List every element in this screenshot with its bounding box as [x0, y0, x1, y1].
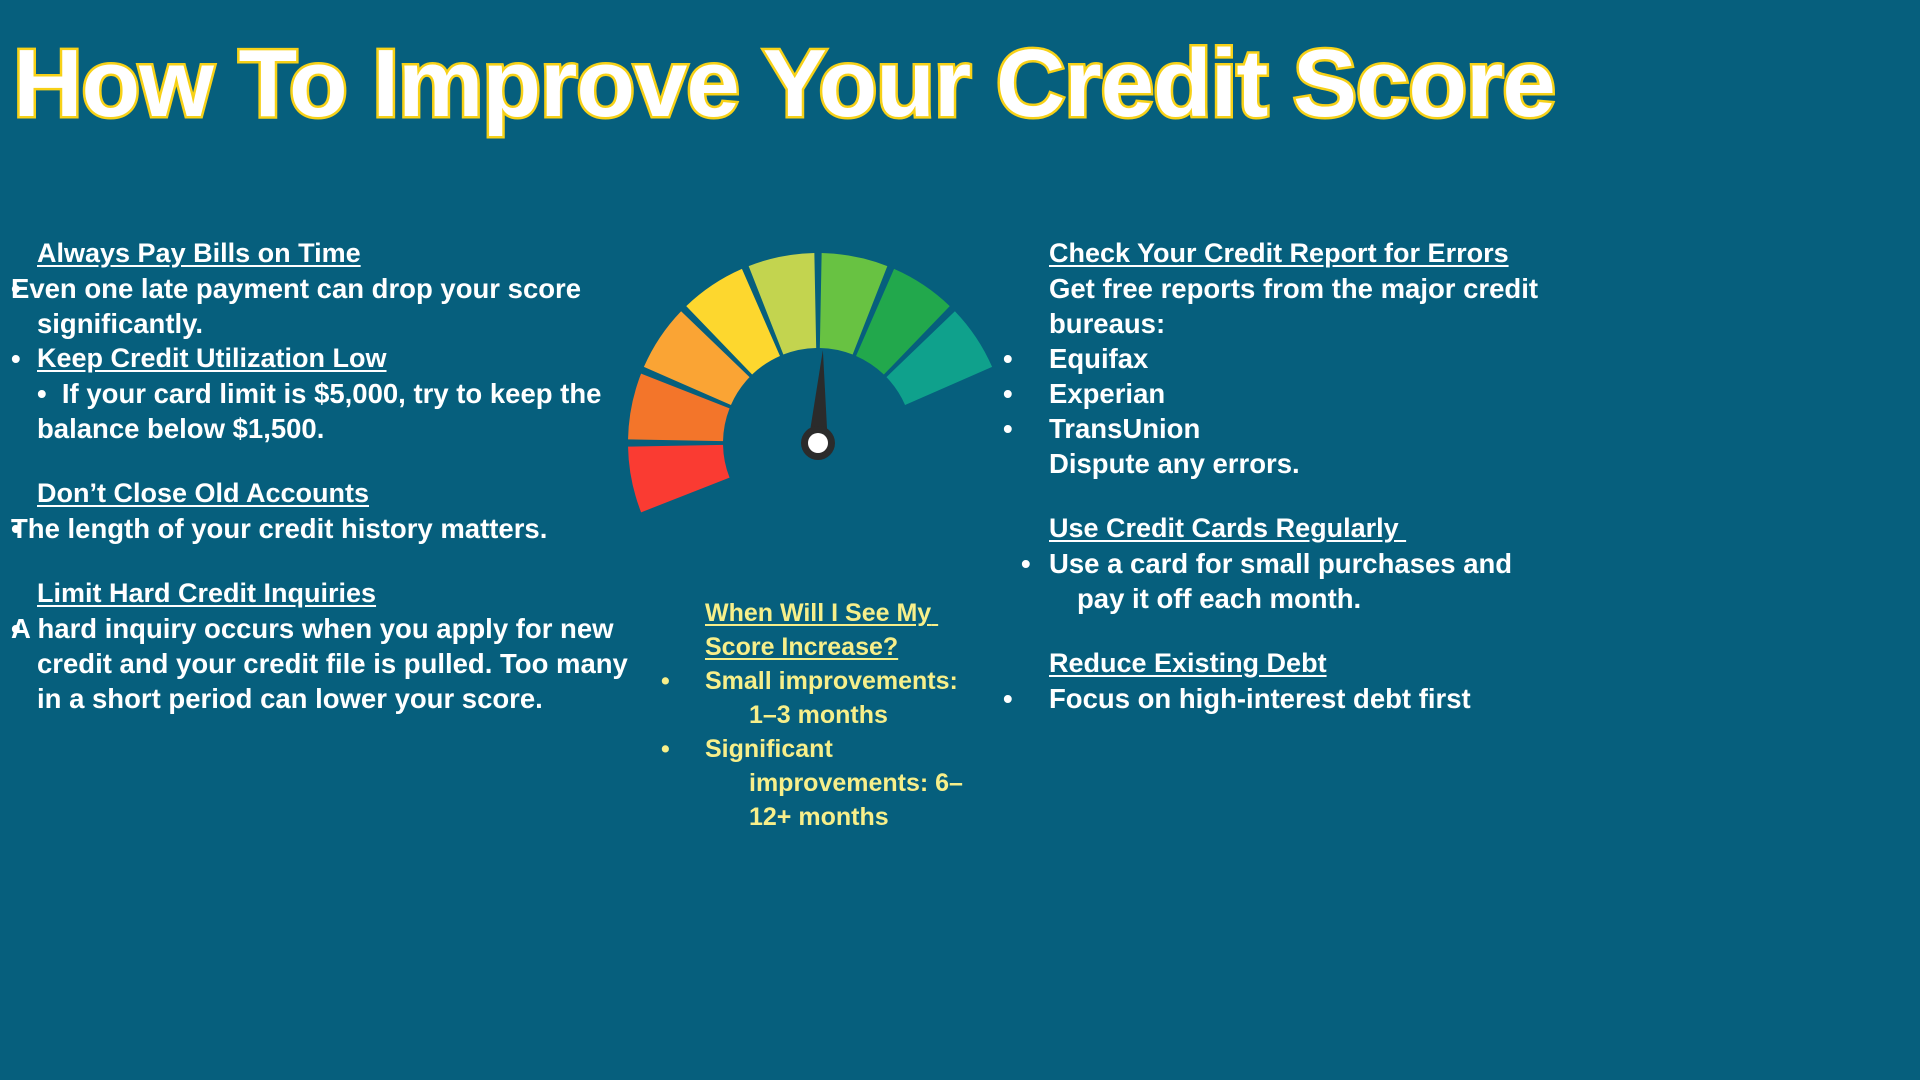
page-title: How To Improve Your Credit Score [0, 36, 1568, 132]
section-heading: When Will I See My Score Increase? [705, 596, 973, 664]
section-keep-utilization-low: Keep Credit Utilization Low • If your ca… [37, 341, 649, 446]
list-item: •Use a card for small purchases and pay … [1049, 546, 1549, 616]
section-reduce-existing-debt: Reduce Existing Debt •Focus on high-inte… [1049, 646, 1549, 716]
credit-score-gauge [615, 235, 1021, 551]
center-column: When Will I See My Score Increase? •Smal… [705, 596, 973, 834]
section-heading: Don’t Close Old Accounts [37, 476, 649, 511]
section-heading: Keep Credit Utilization Low [37, 341, 649, 376]
bullet-list: •A hard inquiry occurs when you apply fo… [37, 611, 649, 716]
list-item: • If your card limit is $5,000, try to k… [37, 376, 649, 446]
list-item-text: The length of your credit history matter… [37, 511, 649, 546]
list-item-text: Significant improvements: 6–12+ months [749, 732, 973, 834]
section-heading: Check Your Credit Report for Errors [1049, 236, 1549, 271]
bullet-glyph: • [37, 378, 62, 409]
section-check-credit-report: Check Your Credit Report for Errors Get … [1049, 236, 1549, 481]
section-heading: Reduce Existing Debt [1049, 646, 1549, 681]
gauge-svg [615, 235, 1021, 551]
spacer [1049, 481, 1549, 511]
list-item-text: If your card limit is $5,000, try to kee… [37, 378, 609, 444]
section-limit-hard-inquiries: Limit Hard Credit Inquiries •A hard inqu… [37, 576, 649, 716]
section-dont-close-old-accounts: Don’t Close Old Accounts •The length of … [37, 476, 649, 546]
section-heading: Limit Hard Credit Inquiries [37, 576, 649, 611]
list-item: •Significant improvements: 6–12+ months [705, 732, 973, 834]
list-item-text: Even one late payment can drop your scor… [37, 271, 649, 341]
bullet-list: •Small improvements: 1–3 months •Signifi… [705, 664, 973, 834]
spacer [37, 546, 649, 576]
section-heading: Always Pay Bills on Time [37, 236, 649, 271]
spacer [1049, 616, 1549, 646]
bullet-list: •Use a card for small purchases and pay … [1049, 546, 1549, 616]
bullet-list: •Equifax •Experian •TransUnion [1049, 341, 1549, 446]
gauge-needle [801, 350, 835, 460]
list-item: •Experian [1049, 376, 1549, 411]
section-when-will-i-see-increase: When Will I See My Score Increase? •Smal… [705, 596, 973, 834]
gauge-segments [628, 253, 992, 512]
list-item-text: Focus on high-interest debt first [1095, 681, 1549, 716]
list-item-text: Use a card for small purchases and pay i… [1077, 546, 1549, 616]
left-column: Always Pay Bills on Time •Even one late … [37, 236, 649, 716]
section-use-credit-cards: Use Credit Cards Regularly •Use a card f… [1049, 511, 1549, 616]
list-item-text: Equifax [1095, 341, 1549, 376]
list-item: •TransUnion [1049, 411, 1549, 446]
spacer [37, 446, 649, 476]
bullet-list: •Focus on high-interest debt first [1049, 681, 1549, 716]
list-item-text: Small improvements: 1–3 months [749, 664, 973, 732]
infographic-canvas: How To Improve Your Credit Score Always … [0, 0, 1568, 882]
list-item: •Small improvements: 1–3 months [705, 664, 973, 732]
list-item: •The length of your credit history matte… [37, 511, 649, 546]
section-intro-text: Get free reports from the major credit b… [1049, 271, 1549, 341]
section-outro-text: Dispute any errors. [1049, 446, 1549, 481]
bullet-list: •The length of your credit history matte… [37, 511, 649, 546]
right-column: Check Your Credit Report for Errors Get … [1049, 236, 1549, 716]
list-item-text: A hard inquiry occurs when you apply for… [37, 611, 649, 716]
bullet-list: •Even one late payment can drop your sco… [37, 271, 649, 341]
list-item: •Focus on high-interest debt first [1049, 681, 1549, 716]
list-item-text: TransUnion [1095, 411, 1549, 446]
section-always-pay-bills: Always Pay Bills on Time •Even one late … [37, 236, 649, 341]
bullet-list: • If your card limit is $5,000, try to k… [37, 376, 649, 446]
list-item: •A hard inquiry occurs when you apply fo… [37, 611, 649, 716]
needle-hub-inner [808, 433, 828, 453]
section-heading: Use Credit Cards Regularly [1049, 511, 1549, 546]
list-item: •Even one late payment can drop your sco… [37, 271, 649, 341]
list-item: •Equifax [1049, 341, 1549, 376]
list-item-text: Experian [1095, 376, 1549, 411]
